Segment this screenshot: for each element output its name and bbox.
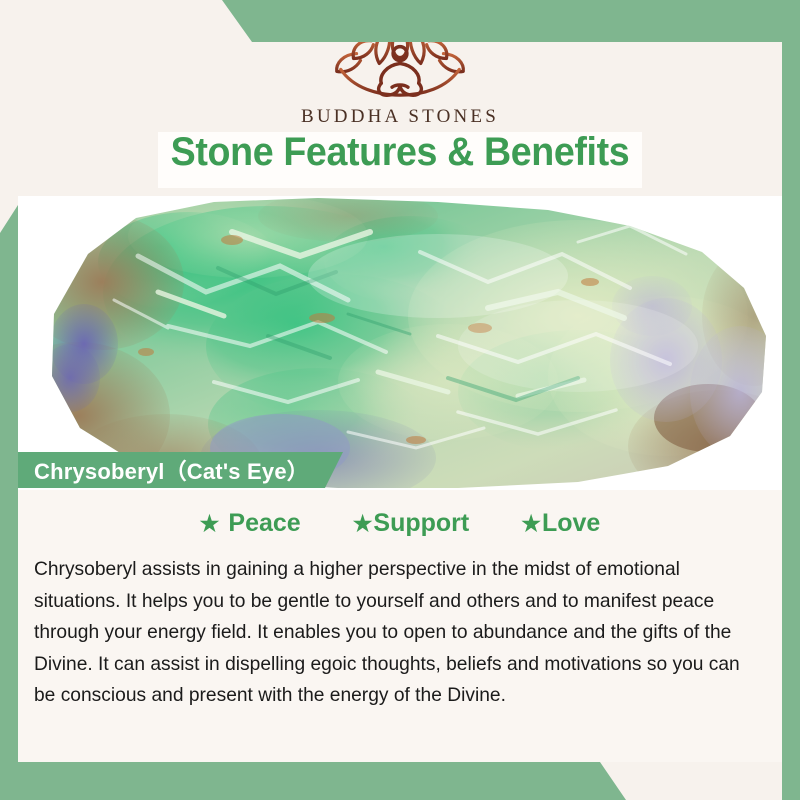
stone-photo <box>18 196 782 490</box>
stone-name: Chrysoberyl（Cat's Eye） <box>34 454 309 486</box>
star-icon: ★ <box>521 513 541 535</box>
brand-name: BUDDHA STONES <box>18 106 782 128</box>
keyword-peace: ★ Peace <box>200 509 301 538</box>
keyword-list: ★ Peace ★ Support ★ Love <box>18 490 782 538</box>
keyword-label: Support <box>373 509 469 538</box>
lotus-meditation-icon <box>325 18 475 102</box>
star-icon: ★ <box>200 513 220 535</box>
content-area: ★ Peace ★ Support ★ Love Chrysoberyl ass… <box>18 490 782 762</box>
logo-block: BUDDHA STONES <box>18 18 782 128</box>
stone-info-card: BUDDHA STONES Stone Features & Benefits <box>0 0 800 800</box>
keyword-love: ★ Love <box>521 509 600 538</box>
keyword-label: Love <box>542 509 600 538</box>
stone-photo-illustration <box>18 196 782 490</box>
star-icon: ★ <box>353 513 373 535</box>
keyword-support: ★ Support <box>353 509 470 538</box>
stone-name-banner: Chrysoberyl（Cat's Eye） <box>18 452 343 488</box>
page-title: Stone Features & Benefits <box>41 130 759 175</box>
stone-description: Chrysoberyl assists in gaining a higher … <box>34 554 749 712</box>
keyword-label: Peace <box>228 509 300 538</box>
page-surface: BUDDHA STONES Stone Features & Benefits <box>18 0 782 762</box>
